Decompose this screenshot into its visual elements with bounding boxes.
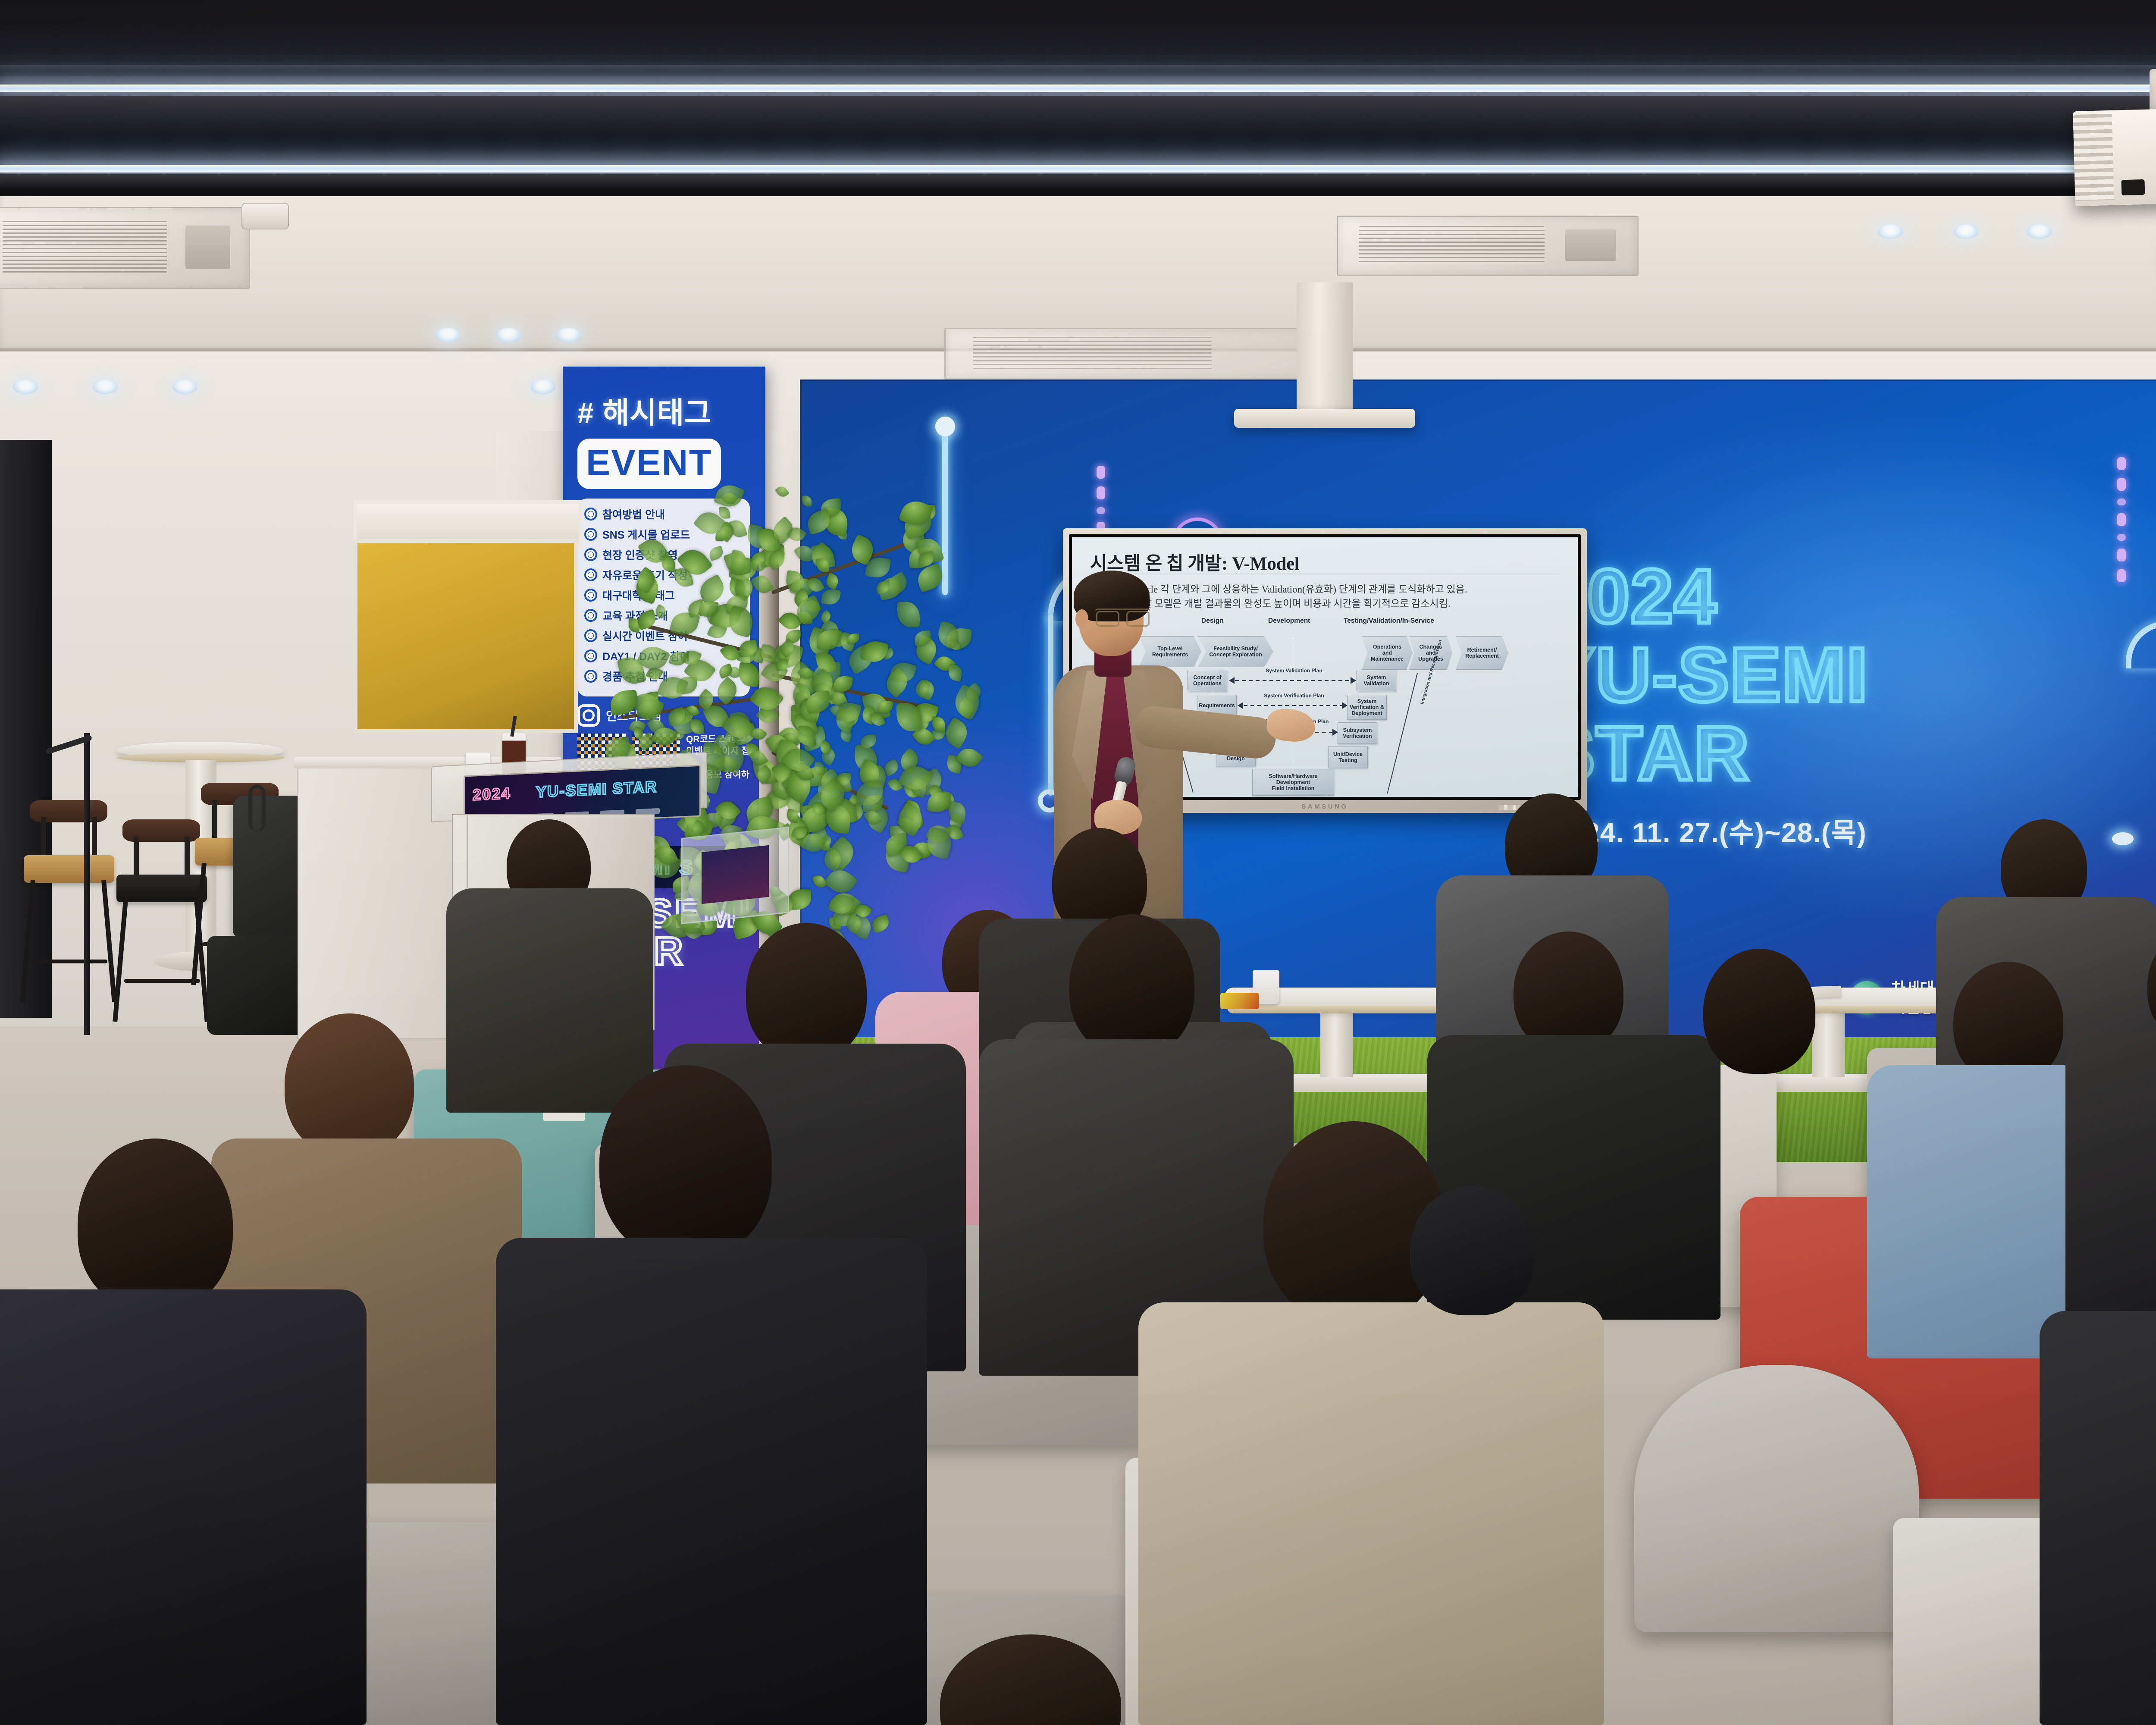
bar-stool xyxy=(116,819,207,1022)
banner-event-label: EVENT xyxy=(586,442,712,483)
vm-plan-label: System Verification Plan xyxy=(1253,693,1335,699)
yellow-wall-panel xyxy=(354,539,578,733)
person-head xyxy=(1953,962,2063,1082)
vm-box-top-right: Retirement/ Replacement xyxy=(1456,636,1508,670)
person-torso xyxy=(446,888,653,1113)
list-item: 현장 인증샷 촬영 xyxy=(584,547,743,562)
stool-footrail xyxy=(124,979,200,983)
hash-bullet-icon xyxy=(584,670,597,683)
wordmark-line-2: YU-SEMI xyxy=(1544,637,2061,713)
person-head xyxy=(746,923,867,1061)
downlight-icon xyxy=(556,328,581,342)
person-head xyxy=(1703,949,1815,1074)
vm-connector xyxy=(1244,705,1343,706)
instagram-label: 인스타그램 xyxy=(606,707,661,724)
display-stand-neck xyxy=(1297,282,1353,412)
person-torso xyxy=(1138,1302,1604,1725)
neon-arc xyxy=(2126,621,2156,668)
led-strip-light xyxy=(0,165,2156,172)
list-item: 대구대학교 태그 xyxy=(584,587,743,603)
hash-bullet-icon xyxy=(584,568,597,581)
person-torso xyxy=(0,1289,367,1725)
arrow-left-icon xyxy=(1238,702,1243,709)
arrow-left-icon xyxy=(1229,677,1235,684)
stool-seat xyxy=(24,855,114,883)
list-item: 경품 추첨 안내 xyxy=(584,668,743,684)
neon-dotted-line xyxy=(2117,457,2126,590)
banner-list-card: 참여방법 안내 SNS 게시물 업로드 현장 인증샷 촬영 자유로운 후기 작성… xyxy=(577,499,750,696)
person-head xyxy=(78,1138,233,1311)
bar-stool xyxy=(24,800,114,1003)
neon-node-icon xyxy=(935,417,955,436)
hash-bullet-icon xyxy=(584,508,597,521)
hash-bullet-icon xyxy=(584,629,597,642)
stool-seat xyxy=(116,875,207,902)
list-item-label: 경품 추첨 안내 xyxy=(602,668,668,684)
list-item-label: 대구대학교 태그 xyxy=(602,587,675,603)
downlight-icon xyxy=(1953,224,1978,239)
seminar-room-photo: 2024 YU-SEMI STAR 2024. 11. 27.(수)~28.(목… xyxy=(0,0,2156,1725)
arrow-right-icon xyxy=(1351,677,1356,684)
list-item-label: 현장 인증샷 촬영 xyxy=(602,547,678,562)
downlight-icon xyxy=(2027,224,2052,239)
vm-box-bottom: Software/Hardware Development Field Inst… xyxy=(1252,769,1334,796)
banner-instagram-row: 인스타그램 xyxy=(577,704,752,727)
air-conditioner-vent xyxy=(944,328,1332,379)
list-item-label: 실시간 이벤트 참여 xyxy=(602,628,688,643)
stool-post xyxy=(212,800,217,843)
downlight-icon xyxy=(1878,224,1903,239)
table-edge xyxy=(1227,1006,1446,1013)
wordmark-line-1: 2024 xyxy=(1544,558,2061,634)
vent-grill xyxy=(3,221,167,273)
list-item-label: 교육 과정 소개 xyxy=(602,608,668,623)
arrow-right-icon xyxy=(1342,702,1347,709)
vm-box-right: Subsystem Verification xyxy=(1338,722,1377,744)
presenter-ear xyxy=(1075,609,1088,628)
podium-brand-right: YU-SEMI STAR xyxy=(536,778,657,801)
hash-bullet-icon xyxy=(584,528,597,541)
grey-ottoman[interactable] xyxy=(1634,1365,1919,1632)
air-conditioner-vent xyxy=(1337,216,1639,276)
ceiling-slat xyxy=(0,96,2156,160)
downlight-icon xyxy=(436,328,461,342)
banner-event-pill: EVENT xyxy=(577,439,721,489)
air-conditioner-vent xyxy=(0,207,250,289)
table-column xyxy=(1320,1013,1353,1077)
list-item: 참여방법 안내 xyxy=(584,506,743,522)
vent-blade xyxy=(1565,229,1616,260)
downlight-icon xyxy=(172,379,197,394)
person-head xyxy=(1514,931,1623,1052)
list-item: 교육 과정 소개 xyxy=(584,608,743,623)
stool-footrail xyxy=(31,960,107,963)
snack-bag xyxy=(1220,993,1259,1009)
person-torso xyxy=(2065,1031,2156,1315)
smoke-detector-icon xyxy=(241,203,289,229)
vent-grill xyxy=(1359,226,1545,264)
eyeglasses-icon xyxy=(1095,608,1150,623)
backdrop-wordmark: 2024 YU-SEMI STAR xyxy=(1544,558,2061,792)
vent-grill xyxy=(973,337,1212,369)
list-item: 실시간 이벤트 참여 xyxy=(584,628,743,643)
list-item: SNS 게시물 업로드 xyxy=(584,527,743,542)
hash-bullet-icon xyxy=(584,589,597,602)
projector-lens-icon xyxy=(2121,179,2145,195)
stool-post xyxy=(134,837,139,880)
wordmark-line-3: STAR xyxy=(1544,715,2061,791)
stool-post xyxy=(185,837,190,880)
person-head xyxy=(285,1013,414,1156)
person-torso xyxy=(496,1238,927,1725)
led-strip-light xyxy=(0,85,2156,92)
banner-hashtag-title: # 해시태그 xyxy=(577,389,752,432)
list-item-label: DAY1 / DAY2 참여 xyxy=(602,648,690,664)
hash-bullet-icon xyxy=(584,609,597,622)
table-column xyxy=(1812,1013,1845,1077)
vent-blade xyxy=(185,226,230,268)
vm-box-right: System Validation xyxy=(1357,670,1396,691)
instagram-icon xyxy=(577,704,600,727)
downlight-icon xyxy=(530,379,555,394)
sign-card xyxy=(702,845,769,904)
list-item-label: SNS 게시물 업로드 xyxy=(602,527,690,542)
vm-box-right: System Verification & Deployment xyxy=(1347,695,1387,720)
backpack-strap xyxy=(248,784,266,832)
vm-column-header: Testing/Validation/In-Service xyxy=(1344,617,1434,625)
projector-vents xyxy=(2073,114,2114,201)
downlight-icon xyxy=(93,379,118,394)
downlight-icon xyxy=(13,379,38,394)
stool-post xyxy=(92,817,97,860)
stool-post xyxy=(41,817,46,860)
vm-column-header: Development xyxy=(1268,617,1310,625)
list-item-label: 참여방법 안내 xyxy=(602,506,665,522)
vm-connector xyxy=(1235,680,1351,681)
neon-node-icon xyxy=(2112,832,2134,845)
projector: EPSON xyxy=(2073,104,2156,206)
vm-box-top-right: Operations and Maintenance xyxy=(1362,636,1413,670)
downlight-icon xyxy=(496,328,521,342)
vm-plan-label: System Validation Plan xyxy=(1253,668,1335,674)
hash-bullet-icon xyxy=(584,649,597,662)
person-head xyxy=(599,1065,772,1259)
vm-box-right: Unit/Device Testing xyxy=(1328,746,1368,768)
person-head xyxy=(1069,914,1194,1057)
ceiling-slat xyxy=(0,65,2156,76)
arrow-right-icon xyxy=(1332,729,1338,736)
backdrop-date: 2024. 11. 27.(수)~28.(목) xyxy=(1552,811,1867,850)
hash-bullet-icon xyxy=(584,548,597,561)
list-item-label: 자유로운 후기 작성 xyxy=(602,567,688,583)
podium-brand-left: 2024 xyxy=(473,784,511,804)
person-torso xyxy=(2040,1311,2156,1725)
coat-rack xyxy=(84,733,90,1035)
person-cap-icon xyxy=(1410,1186,1535,1315)
list-item: 자유로운 후기 작성 xyxy=(584,567,743,583)
display-stand-base xyxy=(1234,409,1415,428)
display-brand-label: SAMSUNG xyxy=(1301,803,1348,810)
list-item: DAY1 / DAY2 참여 xyxy=(584,648,743,664)
neon-trace xyxy=(942,431,948,595)
